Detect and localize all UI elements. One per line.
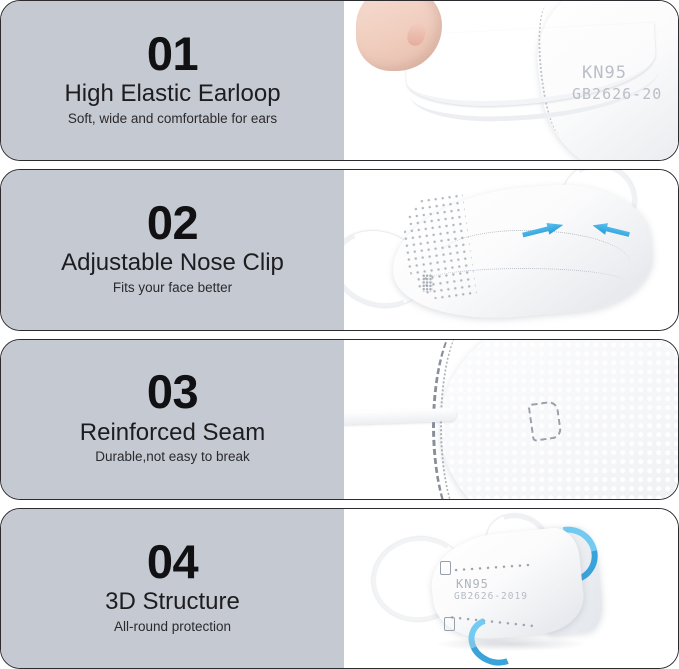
mask-perforation-patch-icon — [422, 274, 433, 292]
mask-clip-upper-icon — [440, 561, 451, 575]
panel-caption-03: 03 Reinforced Seam Durable,not easy to b… — [1, 340, 344, 499]
kn95-feature-infographic: 01 High Elastic Earloop Soft, wide and c… — [0, 0, 679, 669]
panel-photo-01: KN95 GB2626-20 — [344, 1, 678, 160]
panel-title-03: Reinforced Seam — [80, 419, 265, 447]
mask-print-standard-04: KN95 — [456, 577, 489, 591]
panel-number-02: 02 — [147, 198, 198, 247]
product-photo-3d-mask: KN95 GB2626-2019 — [344, 509, 678, 668]
product-photo-reinforced-seam — [344, 340, 678, 499]
panel-subtitle-04: All-round protection — [114, 619, 231, 635]
feature-panel-04: 04 3D Structure All-round protection KN9… — [0, 508, 679, 669]
panel-caption-01: 01 High Elastic Earloop Soft, wide and c… — [1, 1, 344, 160]
panel-photo-04: KN95 GB2626-2019 — [344, 509, 678, 668]
product-photo-earloop: KN95 GB2626-20 — [344, 1, 678, 160]
feature-panel-01: 01 High Elastic Earloop Soft, wide and c… — [0, 0, 679, 161]
panel-photo-03 — [344, 340, 678, 499]
panel-number-04: 04 — [147, 537, 198, 586]
panel-title-04: 3D Structure — [105, 588, 240, 616]
product-drop-shadow — [436, 637, 586, 651]
fingernail-icon — [404, 21, 428, 49]
product-photo-nose-clip — [344, 170, 678, 329]
panel-number-03: 03 — [147, 367, 198, 416]
panel-photo-02 — [344, 170, 678, 329]
seam-tab-icon — [528, 400, 563, 442]
panel-caption-04: 04 3D Structure All-round protection — [1, 509, 344, 668]
panel-subtitle-01: Soft, wide and comfortable for ears — [68, 111, 277, 127]
panel-caption-02: 02 Adjustable Nose Clip Fits your face b… — [1, 170, 344, 329]
panel-subtitle-02: Fits your face better — [113, 280, 232, 296]
mask-clip-lower-icon — [444, 617, 455, 631]
panel-title-01: High Elastic Earloop — [64, 80, 280, 108]
panel-title-02: Adjustable Nose Clip — [61, 249, 284, 277]
mask-print-code-04: GB2626-2019 — [454, 591, 528, 602]
feature-panel-03: 03 Reinforced Seam Durable,not easy to b… — [0, 339, 679, 500]
panel-subtitle-03: Durable,not easy to break — [95, 449, 250, 465]
mask-print-code-01: GB2626-20 — [572, 85, 662, 103]
panel-number-01: 01 — [147, 29, 198, 78]
mask-print-standard-01: KN95 — [582, 63, 627, 83]
feature-panel-02: 02 Adjustable Nose Clip Fits your face b… — [0, 169, 679, 330]
